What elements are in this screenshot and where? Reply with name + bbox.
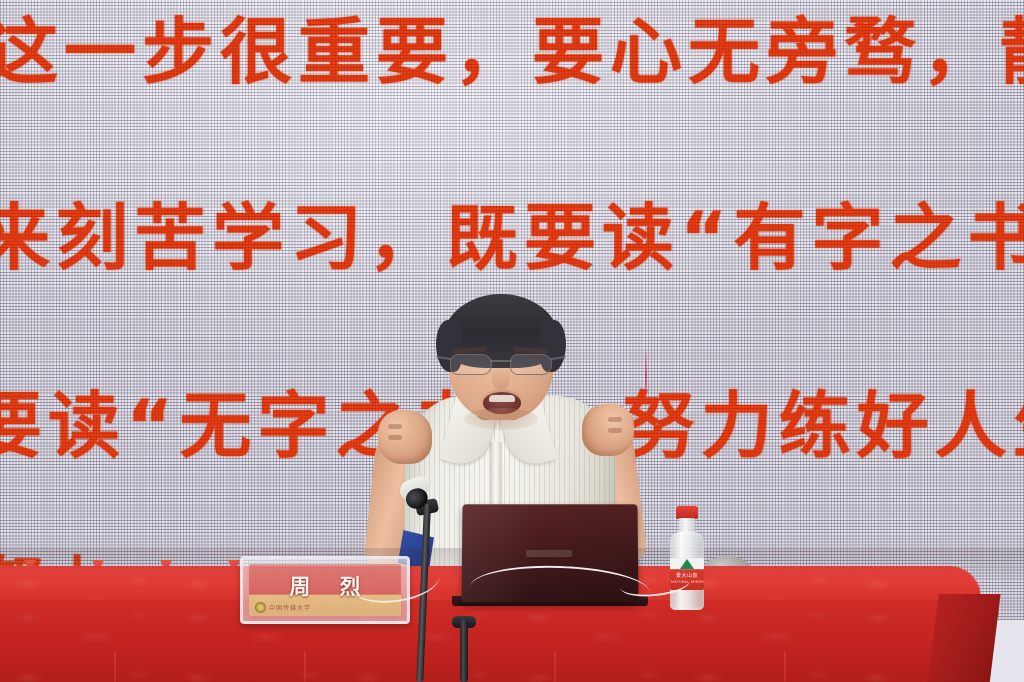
organization-logo-icon — [255, 602, 266, 613]
speaker-chin-shadow — [464, 408, 538, 430]
banner-text-line-2: 来刻苦学习，既要读“有字之书” — [0, 202, 1024, 274]
tablecloth-front — [0, 600, 980, 682]
nameplate-org-text: 中国传媒大学 — [269, 603, 311, 612]
glasses-lens-left — [450, 354, 492, 375]
speaker-fist-right — [582, 404, 634, 456]
cloth-fold — [784, 652, 786, 682]
cloth-fold — [554, 652, 556, 682]
tablecloth-pattern — [0, 600, 980, 682]
cloth-fold — [304, 652, 306, 682]
glasses-lens-right — [510, 354, 552, 375]
speaker-nose — [492, 368, 510, 390]
water-bottle: 景大山泉 NATURAL MINERAL WATER — [668, 506, 706, 610]
knuckle-line — [608, 428, 622, 433]
knuckle-line — [388, 435, 402, 440]
laptop-logo-icon — [526, 550, 572, 557]
banner-text-line-1: 这一步很重要，要心无旁骛，静 — [0, 16, 1024, 88]
nameplate-org: 中国传媒大学 — [255, 602, 395, 613]
mountain-logo-icon — [680, 559, 694, 569]
microphone-stand-secondary — [460, 620, 468, 682]
photo-scene: 这一步很重要，要心无旁骛，静 来刻苦学习，既要读“有字之书” 要读“无字之书”，… — [0, 0, 1024, 682]
glasses-bridge — [490, 360, 512, 362]
knuckle-line — [608, 417, 622, 422]
speaker-fist-left — [378, 410, 432, 464]
knuckle-line — [388, 424, 402, 429]
cloth-fold — [114, 652, 116, 682]
